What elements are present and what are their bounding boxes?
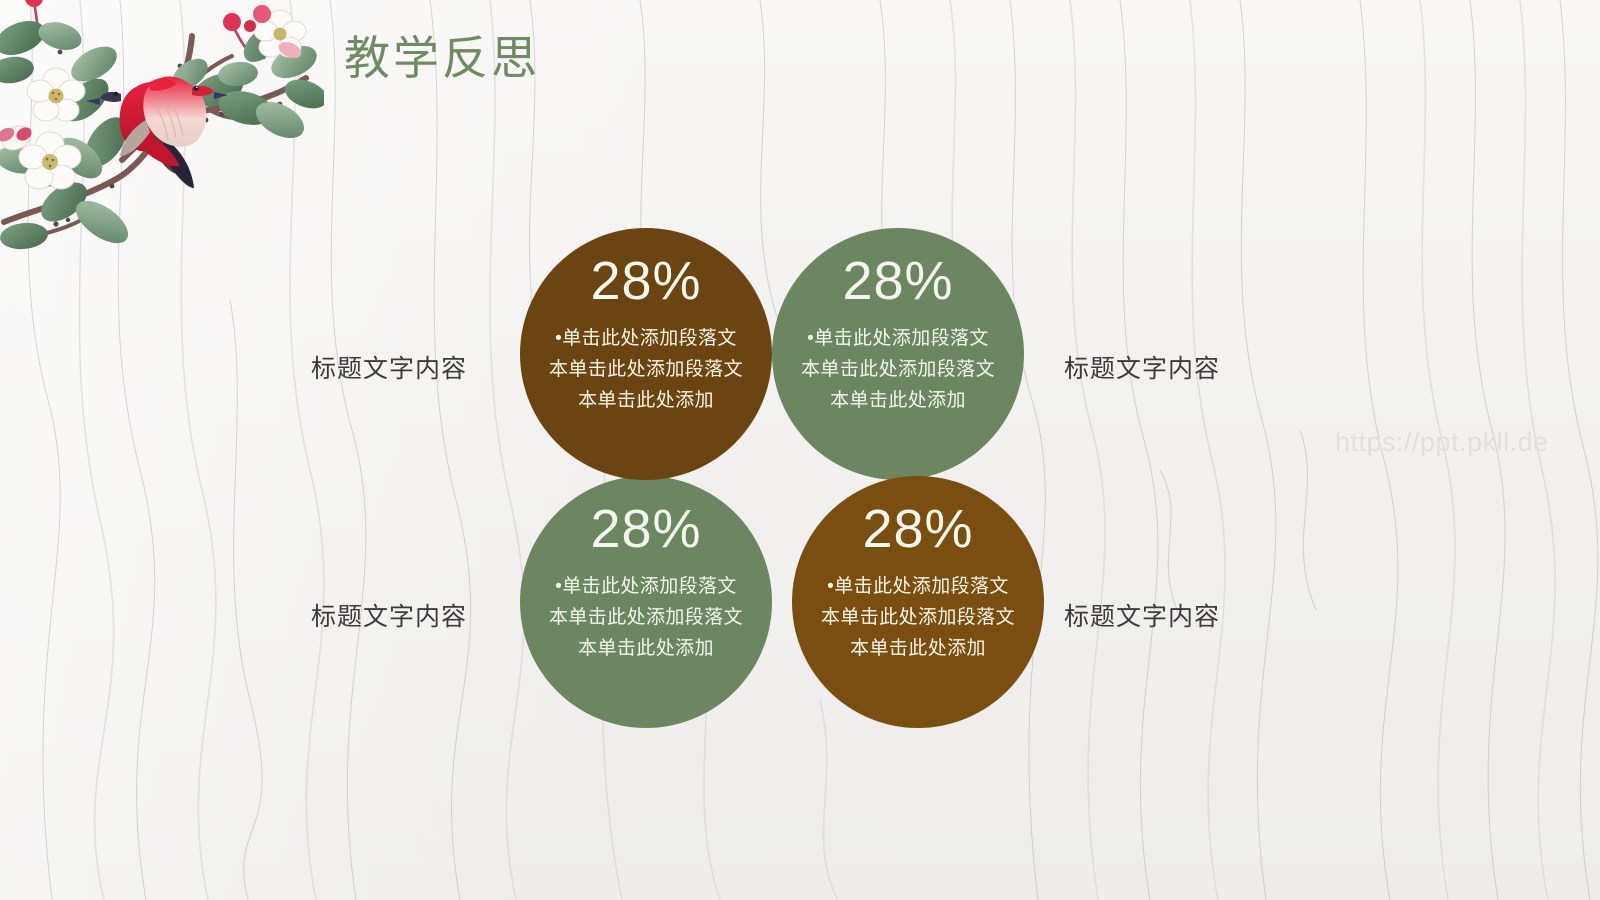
label-top-left: 标题文字内容 [311,349,467,385]
slide-canvas: 教学反思 28% •单击此处添加段落文本单击此处添加段落文本单击此处添加 28%… [0,0,1600,900]
bubble-body-text: •单击此处添加段落文本单击此处添加段落文本单击此处添加 [820,572,1016,664]
bubble-bottom-right[interactable]: 28% •单击此处添加段落文本单击此处添加段落文本单击此处添加 [792,476,1044,728]
bubble-body-text: •单击此处添加段落文本单击此处添加段落文本单击此处添加 [800,324,996,416]
percentage-bubble-cluster: 28% •单击此处添加段落文本单击此处添加段落文本单击此处添加 28% •单击此… [520,228,1040,728]
bubble-body-text: •单击此处添加段落文本单击此处添加段落文本单击此处添加 [548,324,744,416]
bubble-top-right[interactable]: 28% •单击此处添加段落文本单击此处添加段落文本单击此处添加 [772,228,1024,480]
watermark: https://ppt.pkll.de [1335,427,1549,458]
bubble-percent: 28% [590,502,701,556]
chinese-bird-and-flower-painting-icon [0,0,324,272]
bubble-percent: 28% [590,254,701,308]
bubble-body-text: •单击此处添加段落文本单击此处添加段落文本单击此处添加 [548,572,744,664]
bubble-percent: 28% [862,502,973,556]
label-bottom-left: 标题文字内容 [311,597,467,633]
bubble-top-left[interactable]: 28% •单击此处添加段落文本单击此处添加段落文本单击此处添加 [520,228,772,480]
label-bottom-right: 标题文字内容 [1064,597,1220,633]
bubble-bottom-left[interactable]: 28% •单击此处添加段落文本单击此处添加段落文本单击此处添加 [520,476,772,728]
label-top-right: 标题文字内容 [1064,349,1220,385]
bubble-percent: 28% [842,254,953,308]
page-title: 教学反思 [344,33,540,85]
